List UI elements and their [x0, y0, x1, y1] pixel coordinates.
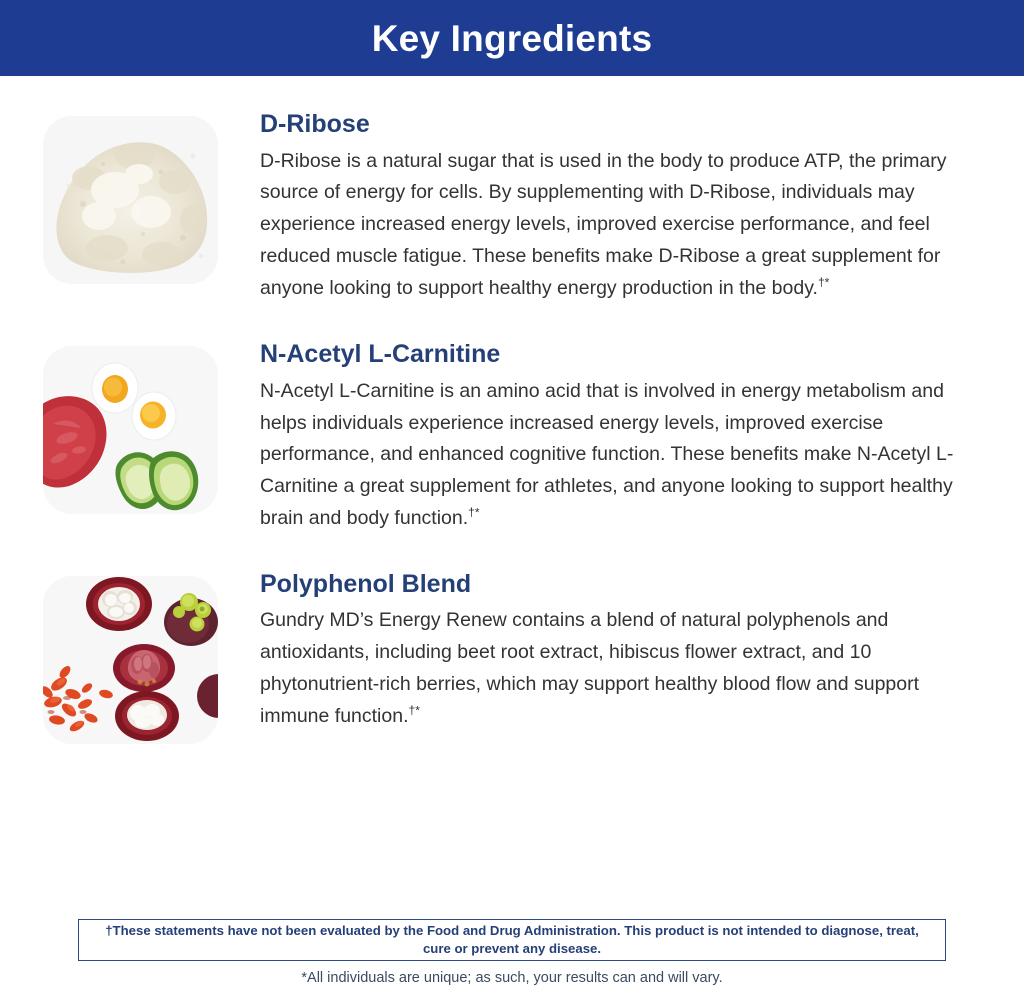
ingredient-text-cell: Polyphenol Blend Gundry MD’s Energy Rene…: [260, 570, 1024, 733]
d-ribose-powder-image: [43, 116, 218, 284]
results-vary-note: *All individuals are unique; as such, yo…: [0, 969, 1024, 988]
ingredient-description-text: D-Ribose is a natural sugar that is used…: [260, 150, 946, 299]
ingredient-title: Polyphenol Blend: [260, 570, 980, 600]
page-title: Key Ingredients: [372, 20, 653, 57]
fda-disclaimer-text: †These statements have not been evaluate…: [79, 922, 945, 957]
ingredient-thumb-cell: [0, 340, 260, 514]
ingredient-item: Polyphenol Blend Gundry MD’s Energy Rene…: [0, 570, 1024, 744]
footnote-markers: †*: [468, 506, 479, 520]
ingredient-text-cell: N-Acetyl L-Carnitine N-Acetyl L-Carnitin…: [260, 340, 1024, 534]
footnote-markers: †*: [818, 275, 829, 289]
ingredient-item: N-Acetyl L-Carnitine N-Acetyl L-Carnitin…: [0, 340, 1024, 534]
ingredient-description: D-Ribose is a natural sugar that is used…: [260, 146, 980, 305]
ingredient-text-cell: D-Ribose D-Ribose is a natural sugar tha…: [260, 110, 1024, 304]
ingredient-description-text: N-Acetyl L-Carnitine is an amino acid th…: [260, 380, 953, 529]
mangosteen-goji-berries-image: [43, 576, 218, 744]
ingredient-item: D-Ribose D-Ribose is a natural sugar tha…: [0, 110, 1024, 304]
page-header: Key Ingredients: [0, 0, 1024, 76]
ingredient-title: D-Ribose: [260, 110, 980, 140]
ingredient-description: Gundry MD’s Energy Renew contains a blen…: [260, 605, 980, 732]
meat-eggs-avocado-image: [43, 346, 218, 514]
fda-disclaimer-box: †These statements have not been evaluate…: [78, 919, 946, 961]
footnote-markers: †*: [409, 703, 420, 717]
ingredients-list: D-Ribose D-Ribose is a natural sugar tha…: [0, 110, 1024, 744]
ingredient-description: N-Acetyl L-Carnitine is an amino acid th…: [260, 376, 980, 535]
ingredient-thumb-cell: [0, 110, 260, 284]
ingredient-description-text: Gundry MD’s Energy Renew contains a blen…: [260, 609, 919, 726]
ingredient-thumb-cell: [0, 570, 260, 744]
ingredient-title: N-Acetyl L-Carnitine: [260, 340, 980, 370]
